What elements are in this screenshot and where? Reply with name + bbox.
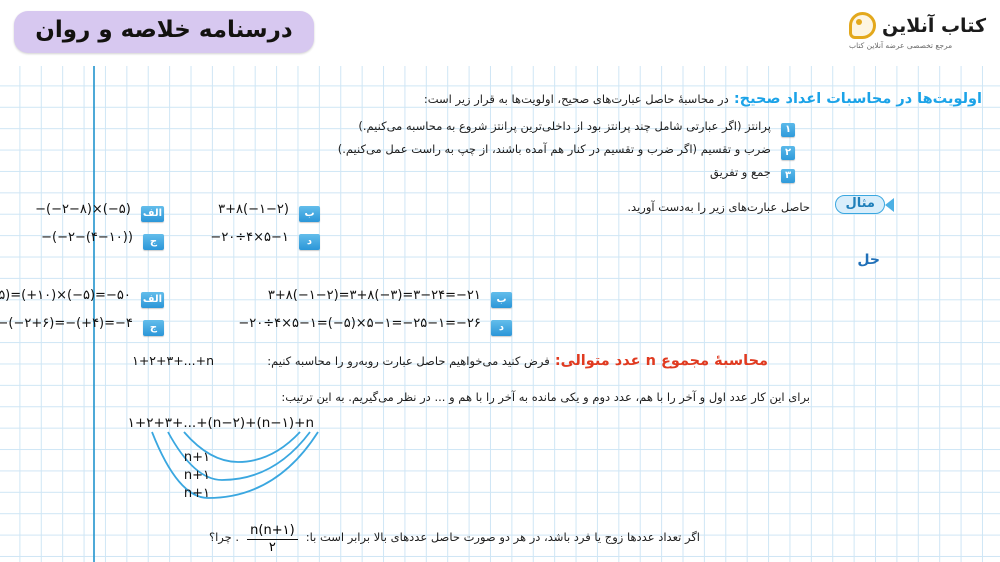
rule-number-badge: ۱ [781, 123, 795, 137]
section2-expr-right: ۱+۲+۳+...+n [132, 353, 214, 368]
closing-text-before: اگر تعداد عددها زوج یا فرد باشد، در هر د… [306, 530, 700, 544]
arc-label: n+۱ [184, 486, 210, 501]
section2-intro: فرض کنید می‌خواهیم حاصل عبارت روبه‌رو را… [267, 354, 550, 368]
example-tag-label: مثال [835, 195, 885, 214]
logo-subtitle: مرجع تخصصی عرضه آنلاین کتاب [849, 41, 952, 50]
rule-item: ۳ جمع و تفریق [710, 161, 795, 183]
logo-text: کتاب آنلاین [882, 15, 986, 37]
formula-denominator: ۲ [247, 541, 298, 555]
example-item-expr: ۳+۸(−۱−۲) [218, 202, 289, 217]
section2-heading-line: محاسبهٔ مجموع n عدد متوالی: فرض کنید می‌… [267, 350, 768, 369]
solution-item-label: ب [491, 292, 512, 308]
example-item-label: الف [141, 206, 164, 222]
arc-label: n+۱ [184, 450, 210, 465]
section1-heading-line: اولویت‌ها در محاسبات اعداد صحیح: در محاس… [424, 88, 982, 107]
sum-formula-fraction: n(n+۱) ۲ [247, 524, 298, 555]
closing-text-after: . چرا؟ [209, 530, 239, 544]
page-header: درسنامه خلاصه و روان کتاب آنلاین مرجع تخ… [0, 0, 1000, 66]
logo-row: کتاب آنلاین [849, 12, 986, 39]
solution-item: ج −(−۲−(۴−۱۰))=−(−۲−(−۶))=−(−۲+۶)=−(+۴)=… [0, 312, 164, 336]
example-item: د −۲۰÷۴×۵−۱ [210, 226, 320, 250]
arc-label: n+۱ [184, 468, 210, 483]
rule-number-badge: ۲ [781, 146, 795, 160]
solution-item: ب ۳+۸(−۱−۲)=۳+۸(−۳)=۳−۲۴=−۲۱ [268, 284, 512, 308]
solution-item-expr: −(−۲−(۴−۱۰))=−(−۲−(−۶))=−(−۲+۶)=−(+۴)=−۴ [0, 316, 133, 331]
rule-text: جمع و تفریق [710, 165, 771, 179]
solution-item-expr: ۳+۸(−۱−۲)=۳+۸(−۳)=۳−۲۴=−۲۱ [268, 288, 481, 303]
example-item-label: ب [299, 206, 320, 222]
solution-label: حل [857, 252, 880, 268]
rule-number-badge: ۳ [781, 169, 795, 183]
formula-numerator: n(n+۱) [247, 524, 298, 538]
title-banner-text: درسنامه خلاصه و روان [35, 19, 292, 45]
example-tag: مثال [835, 195, 892, 214]
rule-text: پرانتز (اگر عبارتی شامل چند پرانتز بود ا… [358, 119, 771, 133]
title-banner: درسنامه خلاصه و روان [14, 11, 314, 53]
example-item-label: د [299, 234, 320, 250]
section1-intro: در محاسبهٔ حاصل عبارت‌های صحیح، اولویت‌ه… [424, 92, 729, 106]
section1-heading: اولویت‌ها در محاسبات اعداد صحیح: [734, 91, 982, 107]
example-tag-arrow-icon [885, 198, 894, 212]
section2-heading: محاسبهٔ مجموع n عدد متوالی: [555, 353, 768, 369]
rule-item: ۱ پرانتز (اگر عبارتی شامل چند پرانتز بود… [358, 115, 795, 137]
content-area: اولویت‌ها در محاسبات اعداد صحیح: در محاس… [0, 62, 1000, 562]
solution-item-expr: −۲۰÷۴×۵−۱=(−۵)×۵−۱=−۲۵−۱=−۲۶ [238, 316, 481, 331]
example-item-expr: −(−۲−(۴−۱۰)) [41, 230, 133, 245]
brand-logo[interactable]: کتاب آنلاین مرجع تخصصی عرضه آنلاین کتاب [849, 12, 986, 50]
rule-text: ضرب و تقسیم (اگر ضرب و تقسیم در کنار هم … [338, 142, 771, 156]
solution-item-label: الف [141, 292, 164, 308]
example-item-expr: −۲۰÷۴×۵−۱ [210, 230, 288, 245]
section2-line2: برای این کار عدد اول و آخر را با هم، عدد… [281, 390, 810, 404]
example-item: ب ۳+۸(−۱−۲) [218, 198, 320, 222]
example-prompt: حاصل عبارت‌های زیر را به‌دست آورید. [627, 200, 810, 214]
solution-item: د −۲۰÷۴×۵−۱=(−۵)×۵−۱=−۲۵−۱=−۲۶ [238, 312, 512, 336]
book-circle-icon [849, 12, 876, 39]
solution-item-expr: −(−۲−۸)×(−۵)=−(−۱۰)×(−۵)=(+۱۰)×(−۵)=−۵۰ [0, 288, 131, 303]
solution-item-label: ج [143, 320, 164, 336]
closing-line: اگر تعداد عددها زوج یا فرد باشد، در هر د… [209, 524, 700, 555]
rule-item: ۲ ضرب و تقسیم (اگر ضرب و تقسیم در کنار ه… [338, 138, 795, 160]
arc-inner [238, 432, 300, 462]
example-item: الف −(−۲−۸)×(−۵) [35, 198, 164, 222]
example-item-label: ج [143, 234, 164, 250]
solution-item: الف −(−۲−۸)×(−۵)=−(−۱۰)×(−۵)=(+۱۰)×(−۵)=… [0, 284, 164, 308]
page-root: درسنامه خلاصه و روان کتاب آنلاین مرجع تخ… [0, 0, 1000, 562]
example-item: ج −(−۲−(۴−۱۰)) [41, 226, 164, 250]
example-item-expr: −(−۲−۸)×(−۵) [35, 202, 131, 217]
solution-item-label: د [491, 320, 512, 336]
